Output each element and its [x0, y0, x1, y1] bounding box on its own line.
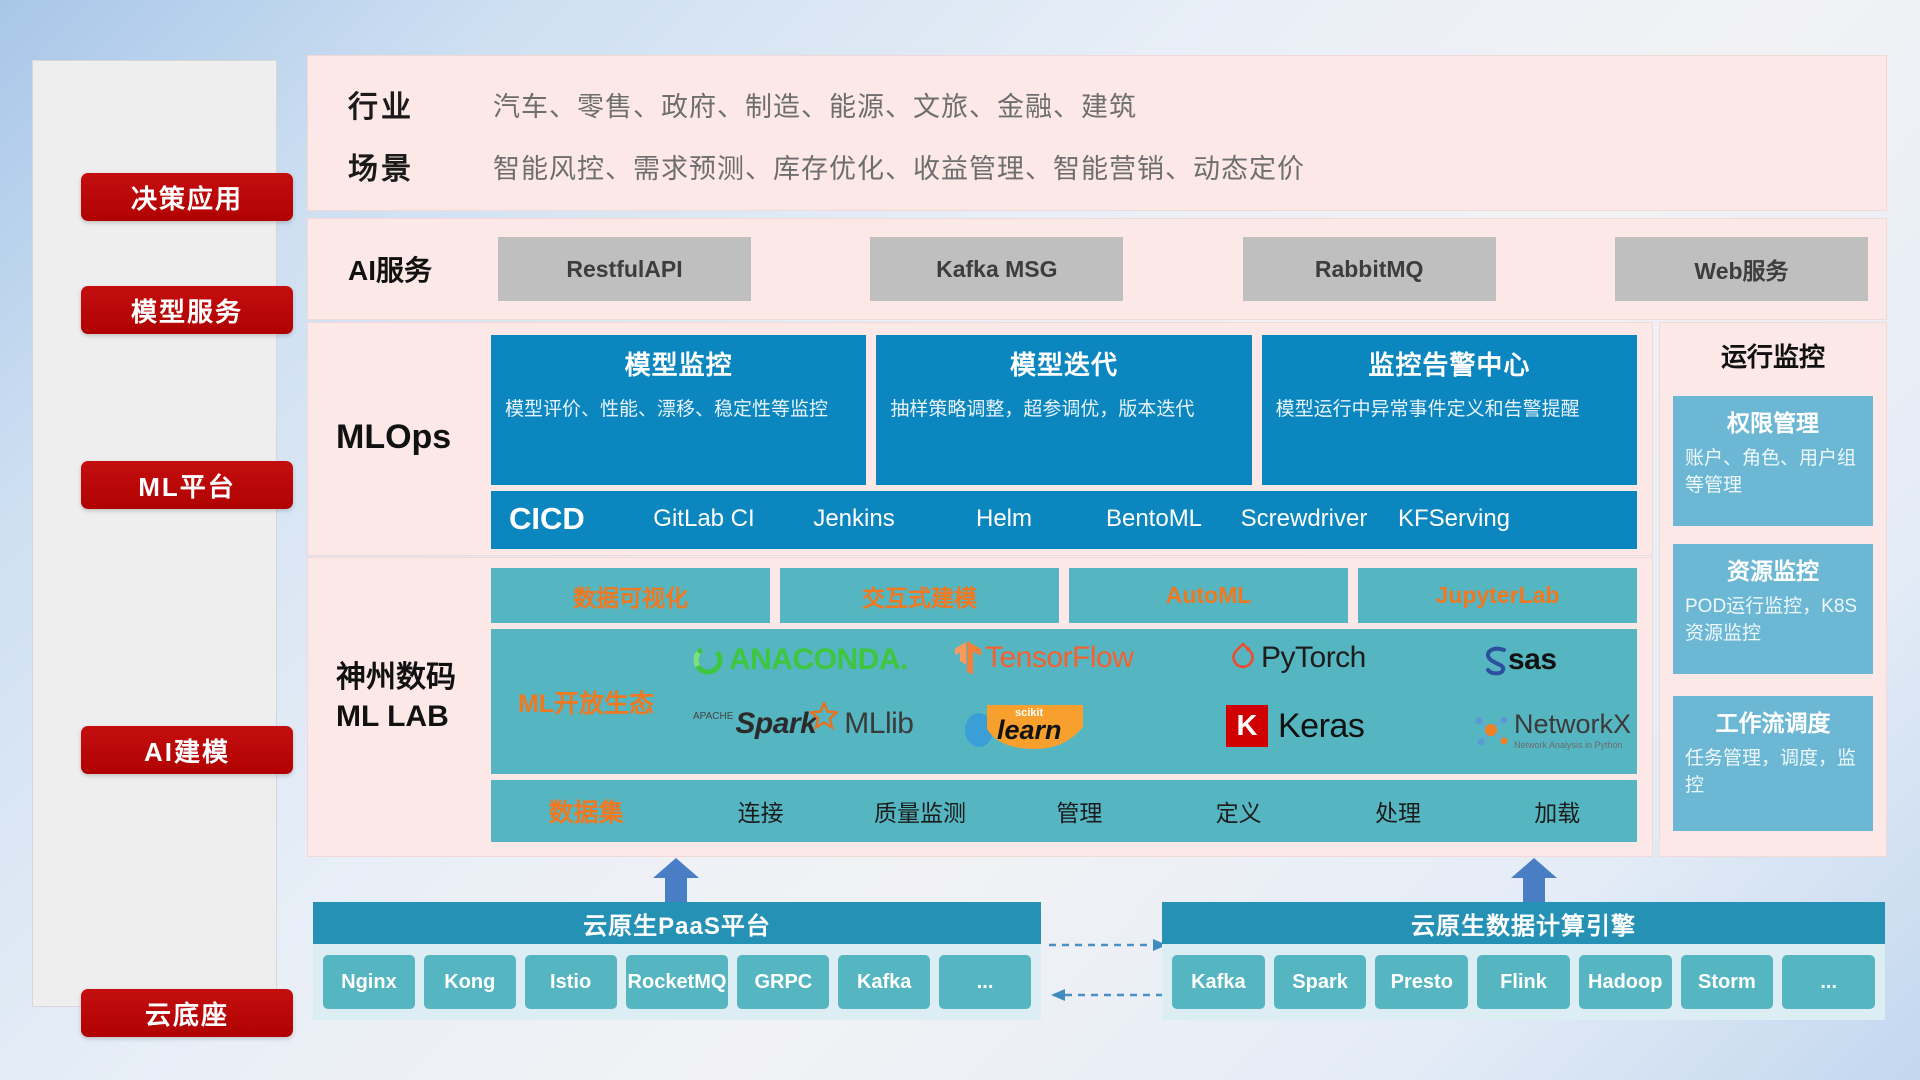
sas-icon — [1481, 644, 1511, 676]
tab-label: JupyterLab — [1436, 582, 1560, 609]
cloud-chip-nginx[interactable]: Nginx — [323, 955, 415, 1009]
cloud-chip-grpc[interactable]: GRPC — [737, 955, 829, 1009]
monitor-card-workflow-scheduling[interactable]: 工作流调度 任务管理，调度，监控 — [1673, 696, 1873, 831]
keras-mark-letter: K — [1237, 710, 1258, 743]
rail-item-ml-platform[interactable]: ML平台 — [81, 461, 293, 509]
anaconda-icon — [691, 643, 725, 677]
card-title: 工作流调度 — [1685, 704, 1861, 738]
rail-item-decision-apps[interactable]: 决策应用 — [81, 173, 293, 221]
mllib-logo-text: MLlib — [844, 707, 913, 741]
rail-item-label: 决策应用 — [131, 179, 243, 216]
tensorflow-icon — [953, 639, 983, 677]
learn-label: learn — [997, 715, 1062, 746]
ml-lab-tab-interactive-modeling[interactable]: 交互式建模 — [780, 568, 1059, 623]
data-chip-spark[interactable]: Spark — [1274, 955, 1367, 1009]
cloud-chip-rocketmq[interactable]: RocketMQ — [626, 955, 729, 1009]
cloud-native-data-engine-block: 云原生数据计算引擎 Kafka Spark Presto Flink Hadoo… — [1162, 902, 1885, 1020]
ml-open-ecosystem-row: ML开放生态 ANACONDA. TensorFlow — [491, 629, 1637, 774]
anaconda-logo: ANACONDA. — [691, 643, 908, 677]
cicd-item-list: GitLab CI Jenkins Helm BentoML Screwdriv… — [629, 491, 1637, 533]
ecosystem-logo-grid: ANACONDA. TensorFlow PyTorch — [681, 629, 1637, 774]
ml-lab-tab-jupyterlab[interactable]: JupyterLab — [1358, 568, 1637, 623]
chip-label: RabbitMQ — [1315, 256, 1424, 283]
networkx-logo-text: NetworkX — [1514, 709, 1631, 740]
card-title: 模型监控 — [505, 345, 852, 382]
mlops-card-list: 模型监控 模型评价、性能、漂移、稳定性等监控 模型迭代 抽样策略调整，超参调优，… — [491, 335, 1637, 485]
card-desc: 模型评价、性能、漂移、稳定性等监控 — [505, 396, 852, 424]
scikit-orange-blob: scikit learn — [987, 705, 1083, 754]
mlops-card-model-monitoring[interactable]: 模型监控 模型评价、性能、漂移、稳定性等监控 — [491, 335, 866, 485]
ml-lab-tab-automl[interactable]: AutoML — [1069, 568, 1348, 623]
cloud-chip-kong[interactable]: Kong — [424, 955, 516, 1009]
decision-apps-panel: 行业 汽车、零售、政府、制造、能源、文旅、金融、建筑 场景 智能风控、需求预测、… — [307, 55, 1887, 211]
rail-item-cloud-base[interactable]: 云底座 — [81, 989, 293, 1037]
ai-service-chip-rabbitmq[interactable]: RabbitMQ — [1243, 237, 1496, 301]
spark-logo-text: Spark — [735, 707, 816, 741]
scenario-value: 智能风控、需求预测、库存优化、收益管理、智能营销、动态定价 — [493, 147, 1305, 186]
ml-lab-label: 神州数码 ML LAB — [336, 658, 456, 736]
cloud-chip-kafka[interactable]: Kafka — [838, 955, 930, 1009]
ai-service-chip-web-service[interactable]: Web服务 — [1615, 237, 1868, 301]
cicd-item-gitlab-ci[interactable]: GitLab CI — [629, 491, 779, 533]
networkx-tagline: Network Analysis in Python — [1514, 740, 1631, 750]
card-title: 监控告警中心 — [1276, 345, 1623, 382]
dashed-arrow-right-icon — [1049, 938, 1169, 952]
data-chip-storm[interactable]: Storm — [1681, 955, 1774, 1009]
apache-label: APACHE — [693, 711, 733, 722]
card-desc: POD运行监控，K8S资源监控 — [1685, 594, 1861, 647]
up-arrow-paas-icon — [653, 858, 699, 902]
cloud-native-paas-block: 云原生PaaS平台 Nginx Kong Istio RocketMQ GRPC… — [313, 902, 1041, 1020]
ml-lab-tab-data-visualization[interactable]: 数据可视化 — [491, 568, 770, 623]
cicd-item-jenkins[interactable]: Jenkins — [779, 491, 929, 533]
ai-service-label: AI服务 — [348, 249, 498, 289]
ml-lab-tab-list: 数据可视化 交互式建模 AutoML JupyterLab — [491, 568, 1637, 623]
data-chip-presto[interactable]: Presto — [1375, 955, 1468, 1009]
sas-logo: sas — [1481, 643, 1557, 677]
spark-star-icon — [810, 702, 838, 730]
mlops-panel: MLOps 模型监控 模型评价、性能、漂移、稳定性等监控 模型迭代 抽样策略调整… — [307, 322, 1653, 556]
monitor-card-permission-management[interactable]: 权限管理 账户、角色、用户组等管理 — [1673, 396, 1873, 526]
monitor-card-resource-monitoring[interactable]: 资源监控 POD运行监控，K8S资源监控 — [1673, 544, 1873, 674]
networkx-text-block: NetworkX Network Analysis in Python — [1514, 709, 1631, 750]
dataset-title: 数据集 — [491, 793, 681, 829]
cloud-data-engine-header: 云原生数据计算引擎 — [1162, 902, 1885, 944]
ai-service-items: RestfulAPI Kafka MSG RabbitMQ Web服务 — [498, 237, 1868, 301]
layer-rail: 决策应用 模型服务 ML平台 AI建模 云底座 — [32, 60, 277, 1007]
scikit-learn-logo: scikit learn — [961, 705, 1083, 754]
dataset-item-loading[interactable]: 加载 — [1478, 794, 1637, 828]
tensorflow-logo: TensorFlow — [953, 639, 1133, 677]
networkx-logo: NetworkX Network Analysis in Python — [1471, 709, 1631, 750]
spark-mllib-logo: APACHE Spark MLlib — [693, 707, 913, 741]
cicd-bar: CICD GitLab CI Jenkins Helm BentoML Scre… — [491, 491, 1637, 549]
data-chip-flink[interactable]: Flink — [1477, 955, 1570, 1009]
cloud-chip-istio[interactable]: Istio — [525, 955, 617, 1009]
card-title: 模型迭代 — [890, 345, 1237, 382]
keras-mark-icon: K — [1226, 705, 1268, 747]
industry-value: 汽车、零售、政府、制造、能源、文旅、金融、建筑 — [493, 85, 1137, 124]
card-desc: 任务管理，调度，监控 — [1685, 746, 1861, 799]
rail-item-ai-modeling[interactable]: AI建模 — [81, 726, 293, 774]
cicd-item-helm[interactable]: Helm — [929, 491, 1079, 533]
chip-label: Web服务 — [1694, 252, 1788, 286]
card-desc: 模型运行中异常事件定义和告警提醒 — [1276, 396, 1623, 424]
ai-service-chip-restfulapi[interactable]: RestfulAPI — [498, 237, 751, 301]
runtime-monitoring-panel: 运行监控 权限管理 账户、角色、用户组等管理 资源监控 POD运行监控，K8S资… — [1659, 322, 1887, 857]
data-chip-kafka[interactable]: Kafka — [1172, 955, 1265, 1009]
pytorch-logo: PyTorch — [1229, 641, 1366, 675]
dashed-arrow-left-icon — [1049, 988, 1169, 1002]
mlops-card-model-iteration[interactable]: 模型迭代 抽样策略调整，超参调优，版本迭代 — [876, 335, 1251, 485]
pytorch-logo-text: PyTorch — [1261, 641, 1366, 675]
cloud-paas-header: 云原生PaaS平台 — [313, 902, 1041, 944]
dataset-row: 数据集 连接 质量监测 管理 定义 处理 加载 — [491, 780, 1637, 842]
ml-open-ecosystem-label: ML开放生态 — [491, 684, 681, 720]
card-desc: 抽样策略调整，超参调优，版本迭代 — [890, 396, 1237, 424]
dataset-item-list: 连接 质量监测 管理 定义 处理 加载 — [681, 794, 1637, 828]
scenario-row: 场景 智能风控、需求预测、库存优化、收益管理、智能营销、动态定价 — [348, 138, 1305, 194]
rail-item-label: AI建模 — [144, 732, 230, 769]
scenario-label: 场景 — [348, 144, 493, 188]
rail-item-model-service[interactable]: 模型服务 — [81, 286, 293, 334]
keras-logo-text: Keras — [1278, 707, 1364, 746]
industry-label: 行业 — [348, 82, 493, 126]
cloud-data-engine-chip-list: Kafka Spark Presto Flink Hadoop Storm ..… — [1162, 944, 1885, 1020]
card-desc: 账户、角色、用户组等管理 — [1685, 446, 1861, 499]
ai-service-panel: AI服务 RestfulAPI Kafka MSG RabbitMQ Web服务 — [307, 218, 1887, 320]
rail-item-label: ML平台 — [138, 467, 236, 504]
chip-label: RestfulAPI — [566, 256, 682, 283]
tab-label: 数据可视化 — [573, 579, 688, 613]
cloud-paas-chip-list: Nginx Kong Istio RocketMQ GRPC Kafka ... — [313, 944, 1041, 1020]
cicd-item-kfserving[interactable]: KFServing — [1379, 491, 1529, 533]
pytorch-icon — [1229, 641, 1257, 675]
ml-lab-label-line1: 神州数码 — [336, 658, 456, 697]
mlops-card-alert-center[interactable]: 监控告警中心 模型运行中异常事件定义和告警提醒 — [1262, 335, 1637, 485]
sas-logo-text: sas — [1508, 643, 1557, 677]
anaconda-logo-text: ANACONDA. — [729, 643, 908, 677]
up-arrow-data-engine-icon — [1511, 858, 1557, 902]
rail-item-label: 模型服务 — [131, 292, 243, 329]
ml-lab-label-line2: ML LAB — [336, 697, 456, 736]
dataset-item-management[interactable]: 管理 — [1000, 794, 1159, 828]
ai-service-chip-kafka-msg[interactable]: Kafka MSG — [870, 237, 1123, 301]
networkx-graph-icon — [1471, 711, 1511, 749]
cloud-chip-more[interactable]: ... — [939, 955, 1031, 1009]
mlops-label: MLOps — [336, 418, 496, 457]
dataset-item-processing[interactable]: 处理 — [1318, 794, 1477, 828]
cicd-item-screwdriver[interactable]: Screwdriver — [1229, 491, 1379, 533]
rail-item-label: 云底座 — [145, 995, 229, 1032]
industry-row: 行业 汽车、零售、政府、制造、能源、文旅、金融、建筑 — [348, 76, 1137, 132]
architecture-diagram: 决策应用 模型服务 ML平台 AI建模 云底座 行业 汽车、零售、政府、制造、能… — [0, 0, 1920, 1080]
data-chip-hadoop[interactable]: Hadoop — [1579, 955, 1672, 1009]
tab-label: AutoML — [1166, 582, 1252, 609]
card-title: 资源监控 — [1685, 552, 1861, 586]
tab-label: 交互式建模 — [862, 579, 977, 613]
runtime-monitoring-title: 运行监控 — [1660, 337, 1886, 374]
cicd-title: CICD — [509, 491, 629, 547]
card-title: 权限管理 — [1685, 404, 1861, 438]
dataset-item-connect[interactable]: 连接 — [681, 794, 840, 828]
dataset-item-quality-monitoring[interactable]: 质量监测 — [840, 794, 999, 828]
cicd-item-bentoml[interactable]: BentoML — [1079, 491, 1229, 533]
keras-logo: K Keras — [1226, 705, 1364, 747]
chip-label: Kafka MSG — [936, 256, 1057, 283]
dataset-item-definition[interactable]: 定义 — [1159, 794, 1318, 828]
tensorflow-logo-text: TensorFlow — [985, 641, 1133, 675]
data-chip-more[interactable]: ... — [1782, 955, 1875, 1009]
ml-lab-panel: 神州数码 ML LAB 数据可视化 交互式建模 AutoML JupyterLa… — [307, 557, 1653, 857]
